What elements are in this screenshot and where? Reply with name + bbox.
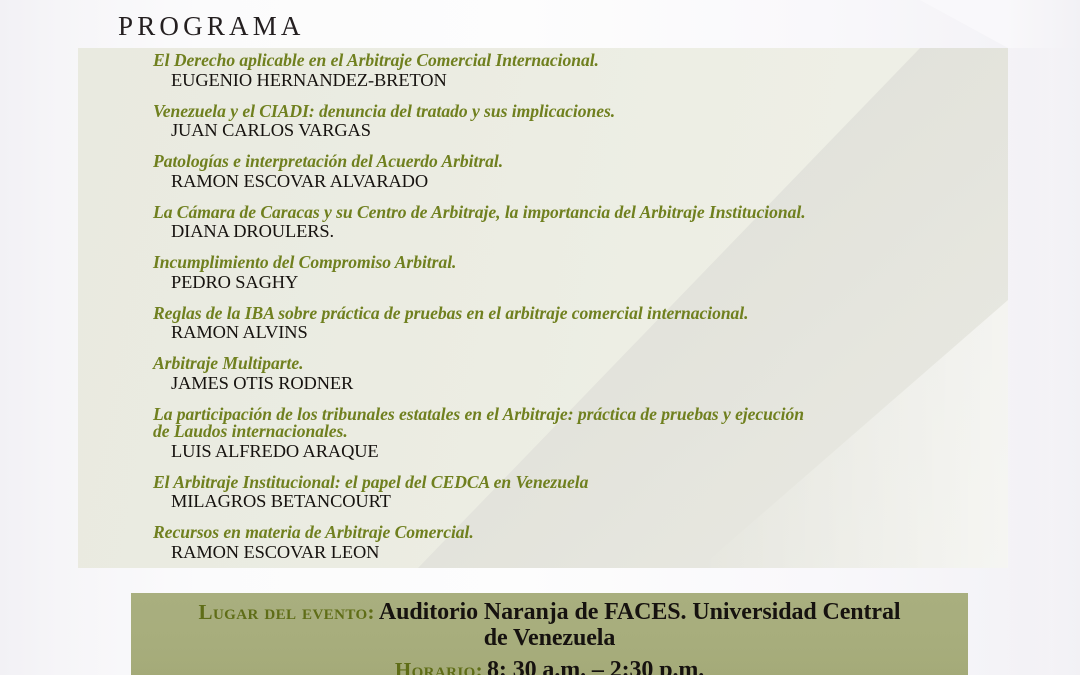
- program-item-speaker: RAMON ESCOVAR LEON: [171, 543, 1063, 561]
- program-item-title: Recursos en materia de Arbitraje Comerci…: [153, 524, 1063, 542]
- program-item-title: El Derecho aplicable en el Arbitraje Com…: [153, 52, 1063, 70]
- program-item-title: Incumplimiento del Compromiso Arbitral.: [153, 254, 1063, 272]
- venue-place-value-line2: de Venezuela: [484, 625, 615, 651]
- program-item: Patologías e interpretación del Acuerdo …: [153, 153, 1063, 190]
- program-item-title: La participación de los tribunales estat…: [153, 406, 1063, 441]
- program-item: Reglas de la IBA sobre práctica de prueb…: [153, 305, 1063, 342]
- program-item-speaker: MILAGROS BETANCOURT: [171, 492, 1063, 510]
- venue-info-box: Lugar del evento: Auditorio Naranja de F…: [131, 593, 968, 675]
- program-item-speaker: LUIS ALFREDO ARAQUE: [171, 442, 1063, 460]
- venue-place-value-line1: Auditorio Naranja de FACES. Universidad …: [379, 599, 901, 625]
- program-item-speaker: JUAN CARLOS VARGAS: [171, 121, 1063, 139]
- program-item-speaker: RAMON ESCOVAR ALVARADO: [171, 172, 1063, 190]
- program-item: El Derecho aplicable en el Arbitraje Com…: [153, 52, 1063, 89]
- program-item-title: El Arbitraje Institucional: el papel del…: [153, 474, 1063, 492]
- program-item-speaker: PEDRO SAGHY: [171, 273, 1063, 291]
- program-item-speaker: RAMON ALVINS: [171, 323, 1063, 341]
- program-item-speaker: DIANA DROULERS.: [171, 222, 1063, 240]
- program-item: El Arbitraje Institucional: el papel del…: [153, 474, 1063, 511]
- program-item-speaker: JAMES OTIS RODNER: [171, 374, 1063, 392]
- venue-time-label: Horario:: [395, 658, 483, 675]
- slide-canvas: PROGRAMA El Derecho aplicable en el Arbi…: [0, 0, 1080, 675]
- program-item: Incumplimiento del Compromiso Arbitral. …: [153, 254, 1063, 291]
- program-item-speaker: EUGENIO HERNANDEZ-BRETON: [171, 71, 1063, 89]
- program-item-title: La Cámara de Caracas y su Centro de Arbi…: [153, 204, 1063, 222]
- venue-place-row: Lugar del evento: Auditorio Naranja de F…: [131, 600, 968, 624]
- program-item: La Cámara de Caracas y su Centro de Arbi…: [153, 204, 1063, 241]
- program-item-title: Reglas de la IBA sobre práctica de prueb…: [153, 305, 1063, 323]
- program-item: Recursos en materia de Arbitraje Comerci…: [153, 524, 1063, 561]
- program-item-title: Venezuela y el CIADI: denuncia del trata…: [153, 103, 1063, 121]
- program-list: El Derecho aplicable en el Arbitraje Com…: [153, 52, 1063, 561]
- program-item-title: Arbitraje Multiparte.: [153, 355, 1063, 373]
- program-item-title: Patologías e interpretación del Acuerdo …: [153, 153, 1063, 171]
- program-item: Venezuela y el CIADI: denuncia del trata…: [153, 103, 1063, 140]
- venue-place-label: Lugar del evento:: [199, 600, 375, 624]
- venue-place-row-2: de Venezuela: [131, 626, 968, 650]
- program-item: Arbitraje Multiparte. JAMES OTIS RODNER: [153, 355, 1063, 392]
- program-item: La participación de los tribunales estat…: [153, 406, 1063, 461]
- page-title: PROGRAMA: [118, 12, 305, 40]
- venue-time-value: 8: 30 a.m. – 2:30 p.m.: [487, 657, 704, 675]
- venue-time-row: Horario: 8: 30 a.m. – 2:30 p.m.: [131, 658, 968, 675]
